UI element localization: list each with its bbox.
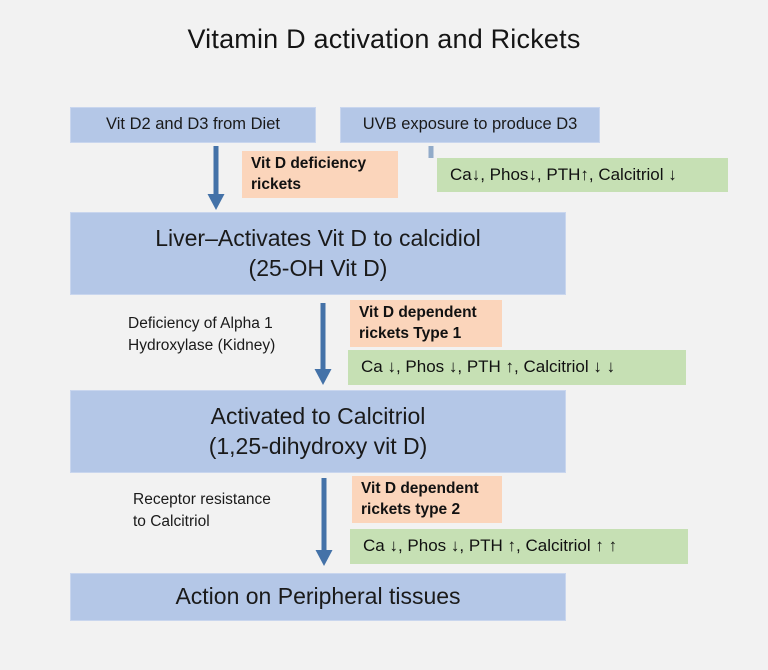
transition-label-alpha1-line1: Deficiency of Alpha 1 [128,313,318,335]
arrow-diet-to-liver [205,146,227,212]
stage-box-calcitriol: Activated to Calcitriol (1,25-dihydroxy … [70,390,566,473]
transition-label-alpha1-hydroxylase: Deficiency of Alpha 1 Hydroxylase (Kidne… [128,313,318,358]
stage-box-liver-line1: Liver–Activates Vit D to calcidiol [155,224,481,253]
rickets-callout-type2: Vit D dependent rickets type 2 [352,476,502,523]
transition-label-alpha1-line2: Hydroxylase (Kidney) [128,335,318,357]
stage-box-calcitriol-line2: (1,25-dihydroxy vit D) [209,432,428,461]
stage-box-peripheral-tissues-label: Action on Peripheral tissues [175,582,460,611]
arrow-calcitriol-to-tissues [313,478,335,568]
lab-values-deficiency-text: Ca↓, Phos↓, PTH↑, Calcitriol ↓ [450,164,677,186]
lab-values-deficiency: Ca↓, Phos↓, PTH↑, Calcitriol ↓ [437,158,728,192]
lab-values-type2: Ca ↓, Phos ↓, PTH ↑, Calcitriol ↑ ↑ [350,529,688,564]
stage-box-liver: Liver–Activates Vit D to calcidiol (25-O… [70,212,566,295]
rickets-callout-type2-line1: Vit D dependent [361,479,479,500]
rickets-callout-deficiency: Vit D deficiency rickets [242,151,398,198]
stage-box-liver-line2: (25-OH Vit D) [155,254,481,283]
arrow-liver-to-calcitriol [312,303,334,387]
rickets-callout-deficiency-line2: rickets [251,175,366,196]
lab-values-type2-text: Ca ↓, Phos ↓, PTH ↑, Calcitriol ↑ ↑ [363,535,617,557]
lab-values-type1-text: Ca ↓, Phos ↓, PTH ↑, Calcitriol ↓ ↓ [361,356,615,378]
transition-label-receptor-resistance: Receptor resistance to Calcitriol [133,489,318,534]
rickets-callout-type2-line2: rickets type 2 [361,500,479,521]
transition-label-receptor-line1: Receptor resistance [133,489,318,511]
page-title: Vitamin D activation and Rickets [0,24,768,55]
stage-box-calcitriol-line1: Activated to Calcitriol [209,402,428,431]
rickets-callout-type1: Vit D dependent rickets Type 1 [350,300,502,347]
rickets-callout-type1-line2: rickets Type 1 [359,324,477,345]
source-box-uvb-label: UVB exposure to produce D3 [363,114,578,135]
lab-values-type1: Ca ↓, Phos ↓, PTH ↑, Calcitriol ↓ ↓ [348,350,686,385]
source-box-diet-label: Vit D2 and D3 from Diet [106,114,280,135]
source-box-diet: Vit D2 and D3 from Diet [70,107,316,143]
source-box-uvb: UVB exposure to produce D3 [340,107,600,143]
rickets-callout-deficiency-line1: Vit D deficiency [251,154,366,175]
stage-box-peripheral-tissues: Action on Peripheral tissues [70,573,566,621]
rickets-callout-type1-line1: Vit D dependent [359,303,477,324]
transition-label-receptor-line2: to Calcitriol [133,511,318,533]
diagram-canvas: Vitamin D activation and Rickets Vit D2 … [0,0,768,670]
